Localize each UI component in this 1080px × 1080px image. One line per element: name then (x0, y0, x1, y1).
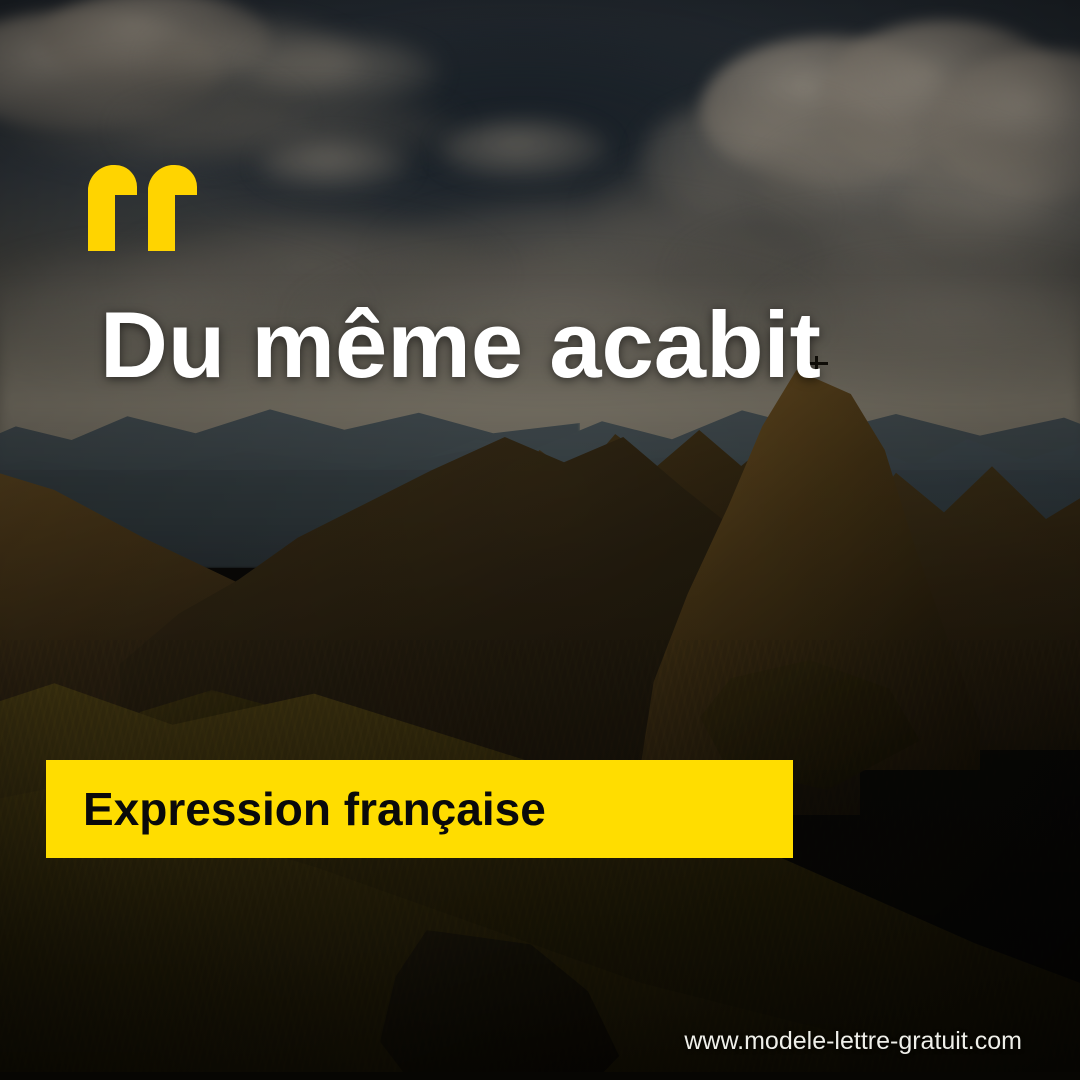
badge-label: Expression française (83, 782, 546, 836)
bottom-edge-strip (0, 1072, 1080, 1080)
quote-glyph-right (148, 165, 197, 251)
site-url-watermark: www.modele-lettre-gratuit.com (684, 1027, 1022, 1056)
expression-badge: Expression française (46, 760, 793, 858)
double-quote-icon (88, 165, 198, 251)
quote-arm (148, 165, 197, 195)
page-title: Du même acabit (100, 296, 1000, 395)
quote-glyph-left (88, 165, 137, 251)
card-content: Du même acabit Expression française www.… (0, 0, 1080, 1080)
quote-arm (88, 165, 137, 195)
quote-card: Du même acabit Expression française www.… (0, 0, 1080, 1080)
